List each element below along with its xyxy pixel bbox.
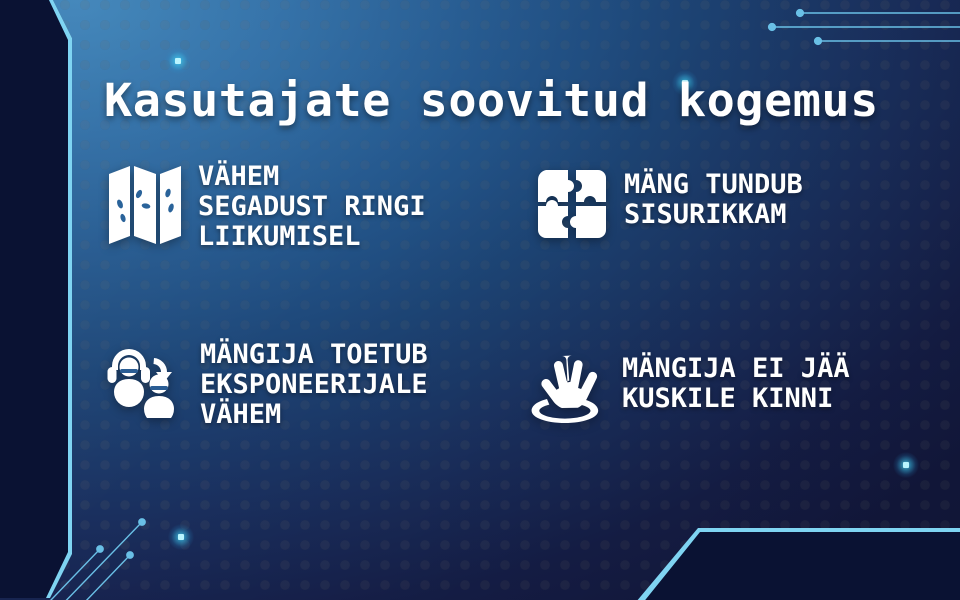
slide-canvas: Kasutajate soovitud kogemus VÄ xyxy=(0,0,960,600)
features-grid: VÄHEM SEGADUST RINGI LIIKUMISEL MÄNG TUN… xyxy=(0,0,960,600)
feature-label: MÄNG TUNDUB SISURIKKAM xyxy=(624,168,803,230)
feature-label: MÄNGIJA TOETUB EKSPONEERIJALE VÄHEM xyxy=(200,338,428,430)
feature-label: VÄHEM SEGADUST RINGI LIIKUMISEL xyxy=(198,160,426,252)
feature-item: MÄNGIJA TOETUB EKSPONEERIJALE VÄHEM xyxy=(104,338,428,430)
feature-item: MÄNG TUNDUB SISURIKKAM xyxy=(536,168,803,240)
feature-label: MÄNGIJA EI JÄÄ KUSKILE KINNI xyxy=(622,352,850,414)
two-users-headset-swap-icon xyxy=(104,338,184,418)
feature-item: VÄHEM SEGADUST RINGI LIIKUMISEL xyxy=(108,160,426,252)
feature-item: MÄNGIJA EI JÄÄ KUSKILE KINNI xyxy=(524,352,850,426)
hand-in-quicksand-icon xyxy=(524,352,606,426)
puzzle-pieces-icon xyxy=(536,168,608,240)
folded-map-icon xyxy=(108,160,182,246)
